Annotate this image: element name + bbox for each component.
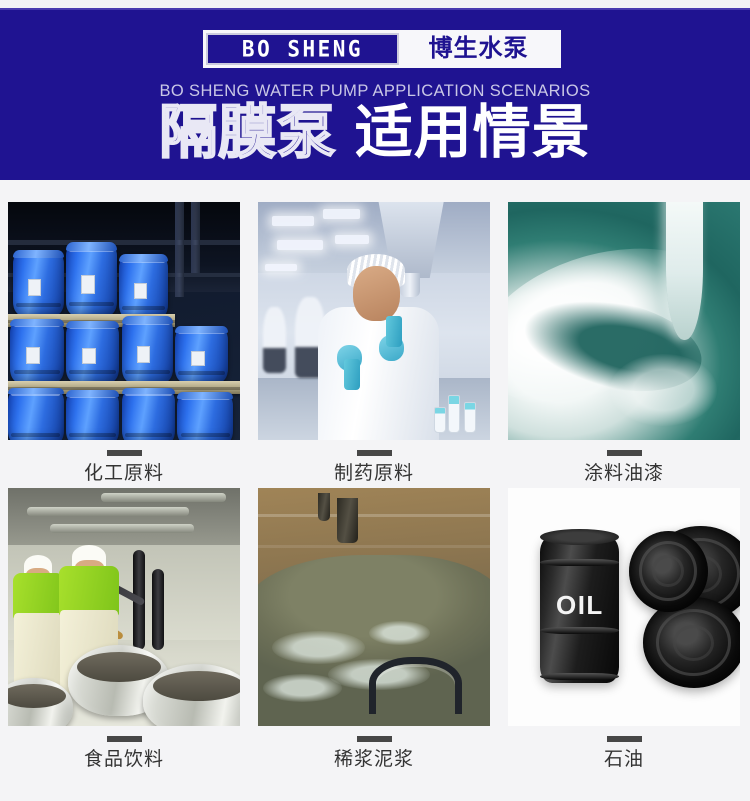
logo-english-box: BO SHENG xyxy=(206,33,399,65)
caption-label: 涂料油漆 xyxy=(508,464,740,485)
scenario-card-chemical-raw-material[interactable]: 化工原料 xyxy=(8,202,240,485)
scenario-caption: 制药原料 xyxy=(258,440,490,485)
caption-label: 化工原料 xyxy=(8,464,240,485)
banner-subtitle: BO SHENG WATER PUMP APPLICATION SCENARIO… xyxy=(0,82,750,101)
scenario-image-pharma-lab xyxy=(258,202,490,440)
caption-label: 制药原料 xyxy=(258,464,490,485)
scenario-card-slurry-mud[interactable]: 稀浆泥浆 xyxy=(258,488,490,771)
scenario-caption: 涂料油漆 xyxy=(508,440,740,485)
logo-chinese-text: 博生水泵 xyxy=(429,37,529,61)
product-application-banner-page: BO SHENG 博生水泵 BO SHENG WATER PUMP APPLIC… xyxy=(0,0,750,801)
logo-english-text: BO SHENG xyxy=(242,38,363,60)
banner-headline: 隔膜泵 适用情景 xyxy=(0,104,750,162)
scenario-image-food-plant xyxy=(8,488,240,726)
caption-accent-bar xyxy=(607,450,642,456)
scenario-image-slurry-tank xyxy=(258,488,490,726)
caption-label: 食品饮料 xyxy=(8,750,240,771)
brand-logo: BO SHENG 博生水泵 xyxy=(203,30,561,68)
headline-solid-text: 适用情景 xyxy=(355,104,591,162)
header-banner: BO SHENG 博生水泵 BO SHENG WATER PUMP APPLIC… xyxy=(0,8,750,180)
scenario-caption: 化工原料 xyxy=(8,440,240,485)
scenario-image-oil-drums: OIL xyxy=(508,488,740,726)
logo-chinese-box: 博生水泵 xyxy=(399,33,558,65)
scenario-card-paint-coating[interactable]: 涂料油漆 xyxy=(508,202,740,485)
headline-outline-text: 隔膜泵 xyxy=(159,104,336,162)
application-scenario-grid: 化工原料 xyxy=(0,180,750,801)
scenario-image-chemical-drums xyxy=(8,202,240,440)
banner-top-divider xyxy=(0,8,750,10)
scenario-caption: 稀浆泥浆 xyxy=(258,726,490,771)
scenario-card-pharmaceutical-raw-material[interactable]: 制药原料 xyxy=(258,202,490,485)
scenario-caption: 石油 xyxy=(508,726,740,771)
scenario-caption: 食品饮料 xyxy=(8,726,240,771)
caption-accent-bar xyxy=(357,736,392,742)
scenario-card-food-beverage[interactable]: 食品饮料 xyxy=(8,488,240,771)
scenario-card-petroleum[interactable]: OIL 石油 xyxy=(508,488,740,771)
caption-label: 稀浆泥浆 xyxy=(258,750,490,771)
caption-accent-bar xyxy=(607,736,642,742)
caption-label: 石油 xyxy=(508,750,740,771)
scenario-image-paint-swirl xyxy=(508,202,740,440)
caption-accent-bar xyxy=(357,450,392,456)
caption-accent-bar xyxy=(107,450,142,456)
caption-accent-bar xyxy=(107,736,142,742)
oil-drum-label: OIL xyxy=(540,592,619,618)
